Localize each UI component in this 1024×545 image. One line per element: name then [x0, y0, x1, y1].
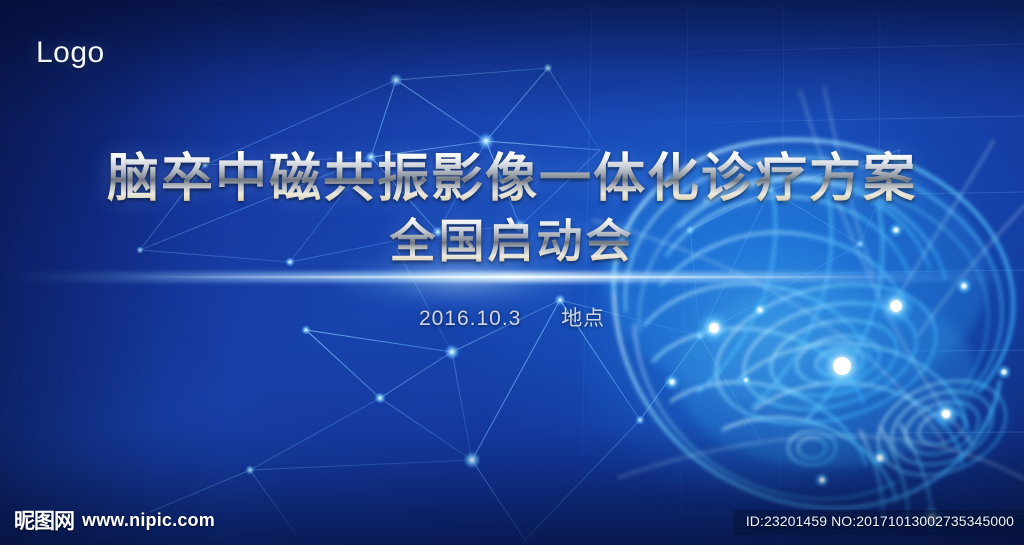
page-subtitle: 全国启动会	[0, 214, 1024, 268]
event-date: 2016.10.3	[419, 307, 521, 330]
watermark: 昵图网 www.nipic.com	[14, 505, 215, 535]
beam-core	[120, 276, 904, 278]
nipic-url-text[interactable]: www.nipic.com	[82, 510, 215, 531]
nipic-logo: 昵图网	[14, 505, 74, 535]
image-id-text: ID:23201459 NO:20171013002735345000	[746, 513, 1014, 529]
left-shade	[0, 0, 230, 545]
top-shade	[0, 0, 1024, 120]
logo-placeholder[interactable]: Logo	[36, 36, 105, 70]
low-poly-network-icon	[0, 0, 1024, 545]
event-venue: 地点	[561, 307, 605, 330]
event-meta: 2016.10.3 地点	[0, 302, 1024, 332]
light-beam-icon	[0, 272, 1024, 282]
image-id-bar: ID:23201459 NO:20171013002735345000	[734, 510, 1024, 535]
vignette	[0, 0, 1024, 545]
page-title: 脑卒中磁共振影像一体化诊疗方案	[0, 150, 1024, 208]
poster-canvas: Logo 脑卒中磁共振影像一体化诊疗方案 全国启动会 2016.10.3 地点 …	[0, 0, 1024, 545]
title-block: 脑卒中磁共振影像一体化诊疗方案 全国启动会	[0, 150, 1024, 269]
perspective-grid-icon	[0, 0, 1024, 545]
